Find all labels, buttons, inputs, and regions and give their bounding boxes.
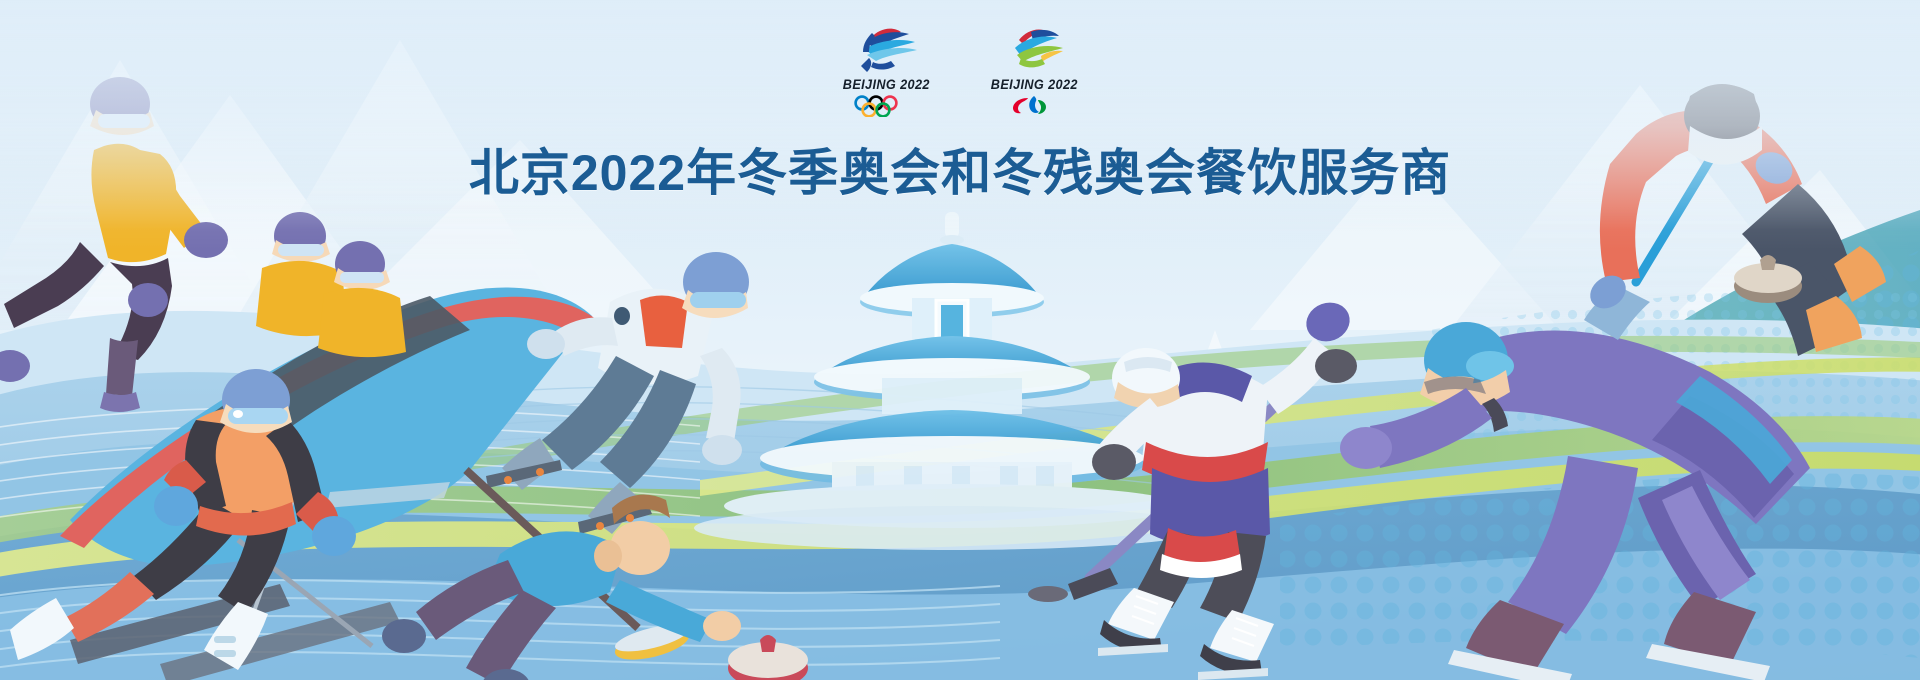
logo-group: BEIJING 2022 <box>834 22 1086 117</box>
page-title: 北京2022年冬季奥会和冬残奥会餐饮服务商 <box>469 133 1451 205</box>
olympic-banner: BEIJING 2022 <box>0 0 1920 680</box>
paralympic-wordmark: BEIJING 2022 <box>990 77 1077 92</box>
olympic-rings-icon <box>849 95 923 117</box>
olympic-emblem-mark <box>849 22 923 74</box>
beijing-2022-olympic-logo[interactable]: BEIJING 2022 <box>834 22 938 117</box>
paralympic-emblem-mark <box>997 22 1071 74</box>
olympic-wordmark: BEIJING 2022 <box>842 77 929 92</box>
paralympic-agitos-icon <box>997 95 1071 117</box>
beijing-2022-paralympic-logo[interactable]: BEIJING 2022 <box>982 22 1086 117</box>
